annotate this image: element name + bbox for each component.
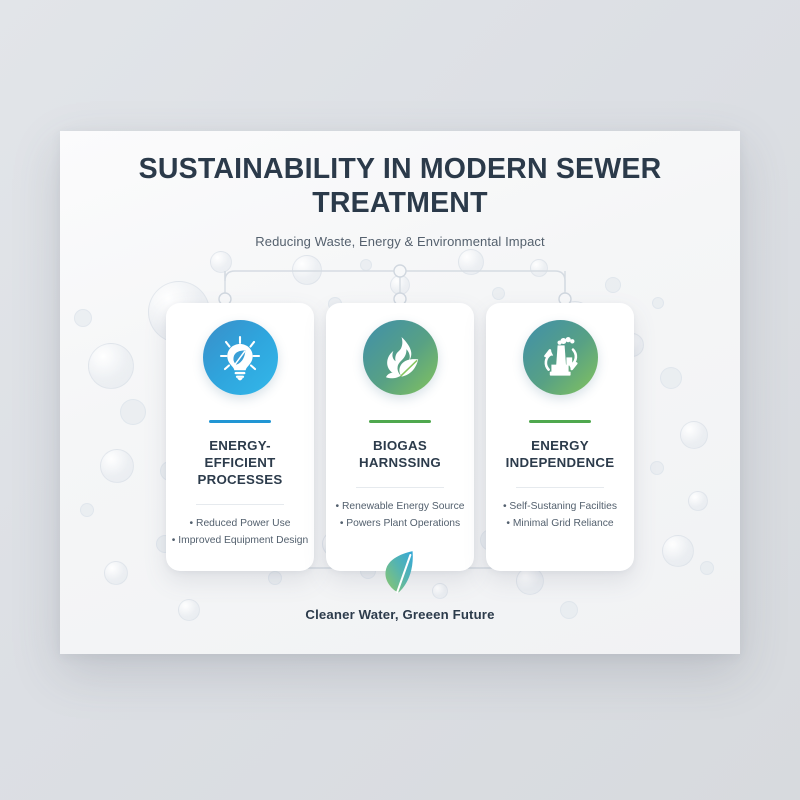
card-biogas-harnssing[interactable]: BIOGAS HARNSSING Renewable Energy Source… xyxy=(326,303,474,571)
card-title: ENERGY INDEPENDENCE xyxy=(496,437,624,471)
card-divider xyxy=(196,504,284,505)
header: SUSTAINABILITY IN MODERN SEWER TREATMENT… xyxy=(60,153,740,249)
leaf-icon xyxy=(380,549,420,595)
lightbulb-leaf-icon-circle xyxy=(203,320,278,395)
card-bullet-list: Renewable Energy Source Powers Plant Ope… xyxy=(336,499,465,532)
card-energy-efficient-processes[interactable]: ENERGY-EFFICIENT PROCESSES Reduced Power… xyxy=(166,303,314,571)
card-title: BIOGAS HARNSSING xyxy=(336,437,464,471)
list-item: Improved Equipment Design xyxy=(172,533,308,550)
card-accent-bar xyxy=(529,420,591,423)
flame-leaf-icon-circle xyxy=(363,320,438,395)
list-item: Powers Plant Operations xyxy=(336,516,465,533)
list-item: Self-Sustaning Facilties xyxy=(503,499,617,516)
card-bullet-list: Reduced Power Use Improved Equipment Des… xyxy=(172,516,308,549)
page-subtitle: Reducing Waste, Energy & Environmental I… xyxy=(60,234,740,249)
cards-row: ENERGY-EFFICIENT PROCESSES Reduced Power… xyxy=(60,303,740,571)
list-item: Renewable Energy Source xyxy=(336,499,465,516)
card-accent-bar xyxy=(369,420,431,423)
lightbulb-leaf-icon xyxy=(215,333,265,383)
poster-panel: SUSTAINABILITY IN MODERN SEWER TREATMENT… xyxy=(60,131,740,654)
factory-recycle-icon xyxy=(535,333,585,383)
card-divider xyxy=(356,487,444,488)
card-energy-independence[interactable]: ENERGY INDEPENDENCE Self-Sustaning Facil… xyxy=(486,303,634,571)
card-bullet-list: Self-Sustaning Facilties Minimal Grid Re… xyxy=(503,499,617,532)
page-title: SUSTAINABILITY IN MODERN SEWER TREATMENT xyxy=(60,153,740,221)
card-divider xyxy=(516,487,604,488)
card-accent-bar xyxy=(209,420,271,423)
flame-leaf-icon xyxy=(375,333,425,383)
list-item: Reduced Power Use xyxy=(172,516,308,533)
card-title: ENERGY-EFFICIENT PROCESSES xyxy=(176,437,304,488)
footer-text: Cleaner Water, Greeen Future xyxy=(305,607,494,622)
list-item: Minimal Grid Reliance xyxy=(503,516,617,533)
footer: Cleaner Water, Greeen Future xyxy=(60,549,740,622)
factory-recycle-icon-circle xyxy=(523,320,598,395)
